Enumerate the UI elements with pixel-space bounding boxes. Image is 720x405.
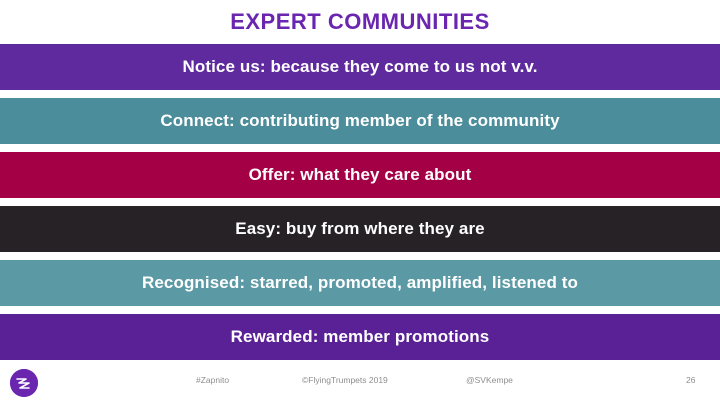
bar-item-label: Offer: what they care about [249, 166, 472, 185]
bar-item-label: Connect: contributing member of the comm… [160, 112, 559, 131]
footer-handle: @SVKempe [466, 375, 513, 385]
bar-list: Notice us: because they come to us not v… [0, 44, 720, 368]
bar-item-label: Easy: buy from where they are [235, 220, 485, 239]
bar-item-label: Notice us: because they come to us not v… [182, 58, 537, 77]
bar-item: Notice us: because they come to us not v… [0, 44, 720, 90]
page-title: EXPERT COMMUNITIES [0, 0, 720, 40]
bar-item: Connect: contributing member of the comm… [0, 98, 720, 144]
footer-copyright: ©FlyingTrumpets 2019 [302, 375, 388, 385]
zapnito-logo-icon [10, 369, 38, 397]
slide: EXPERT COMMUNITIES Notice us: because th… [0, 0, 720, 405]
bar-item-label: Rewarded: member promotions [231, 328, 490, 347]
slide-footer: #Zapnito ©FlyingTrumpets 2019 @SVKempe 2… [0, 361, 720, 405]
bar-item: Recognised: starred, promoted, amplified… [0, 260, 720, 306]
bar-item: Rewarded: member promotions [0, 314, 720, 360]
bar-item-label: Recognised: starred, promoted, amplified… [142, 274, 578, 293]
bar-item: Offer: what they care about [0, 152, 720, 198]
bar-item: Easy: buy from where they are [0, 206, 720, 252]
footer-page-number: 26 [686, 375, 695, 385]
footer-hashtag: #Zapnito [196, 375, 229, 385]
